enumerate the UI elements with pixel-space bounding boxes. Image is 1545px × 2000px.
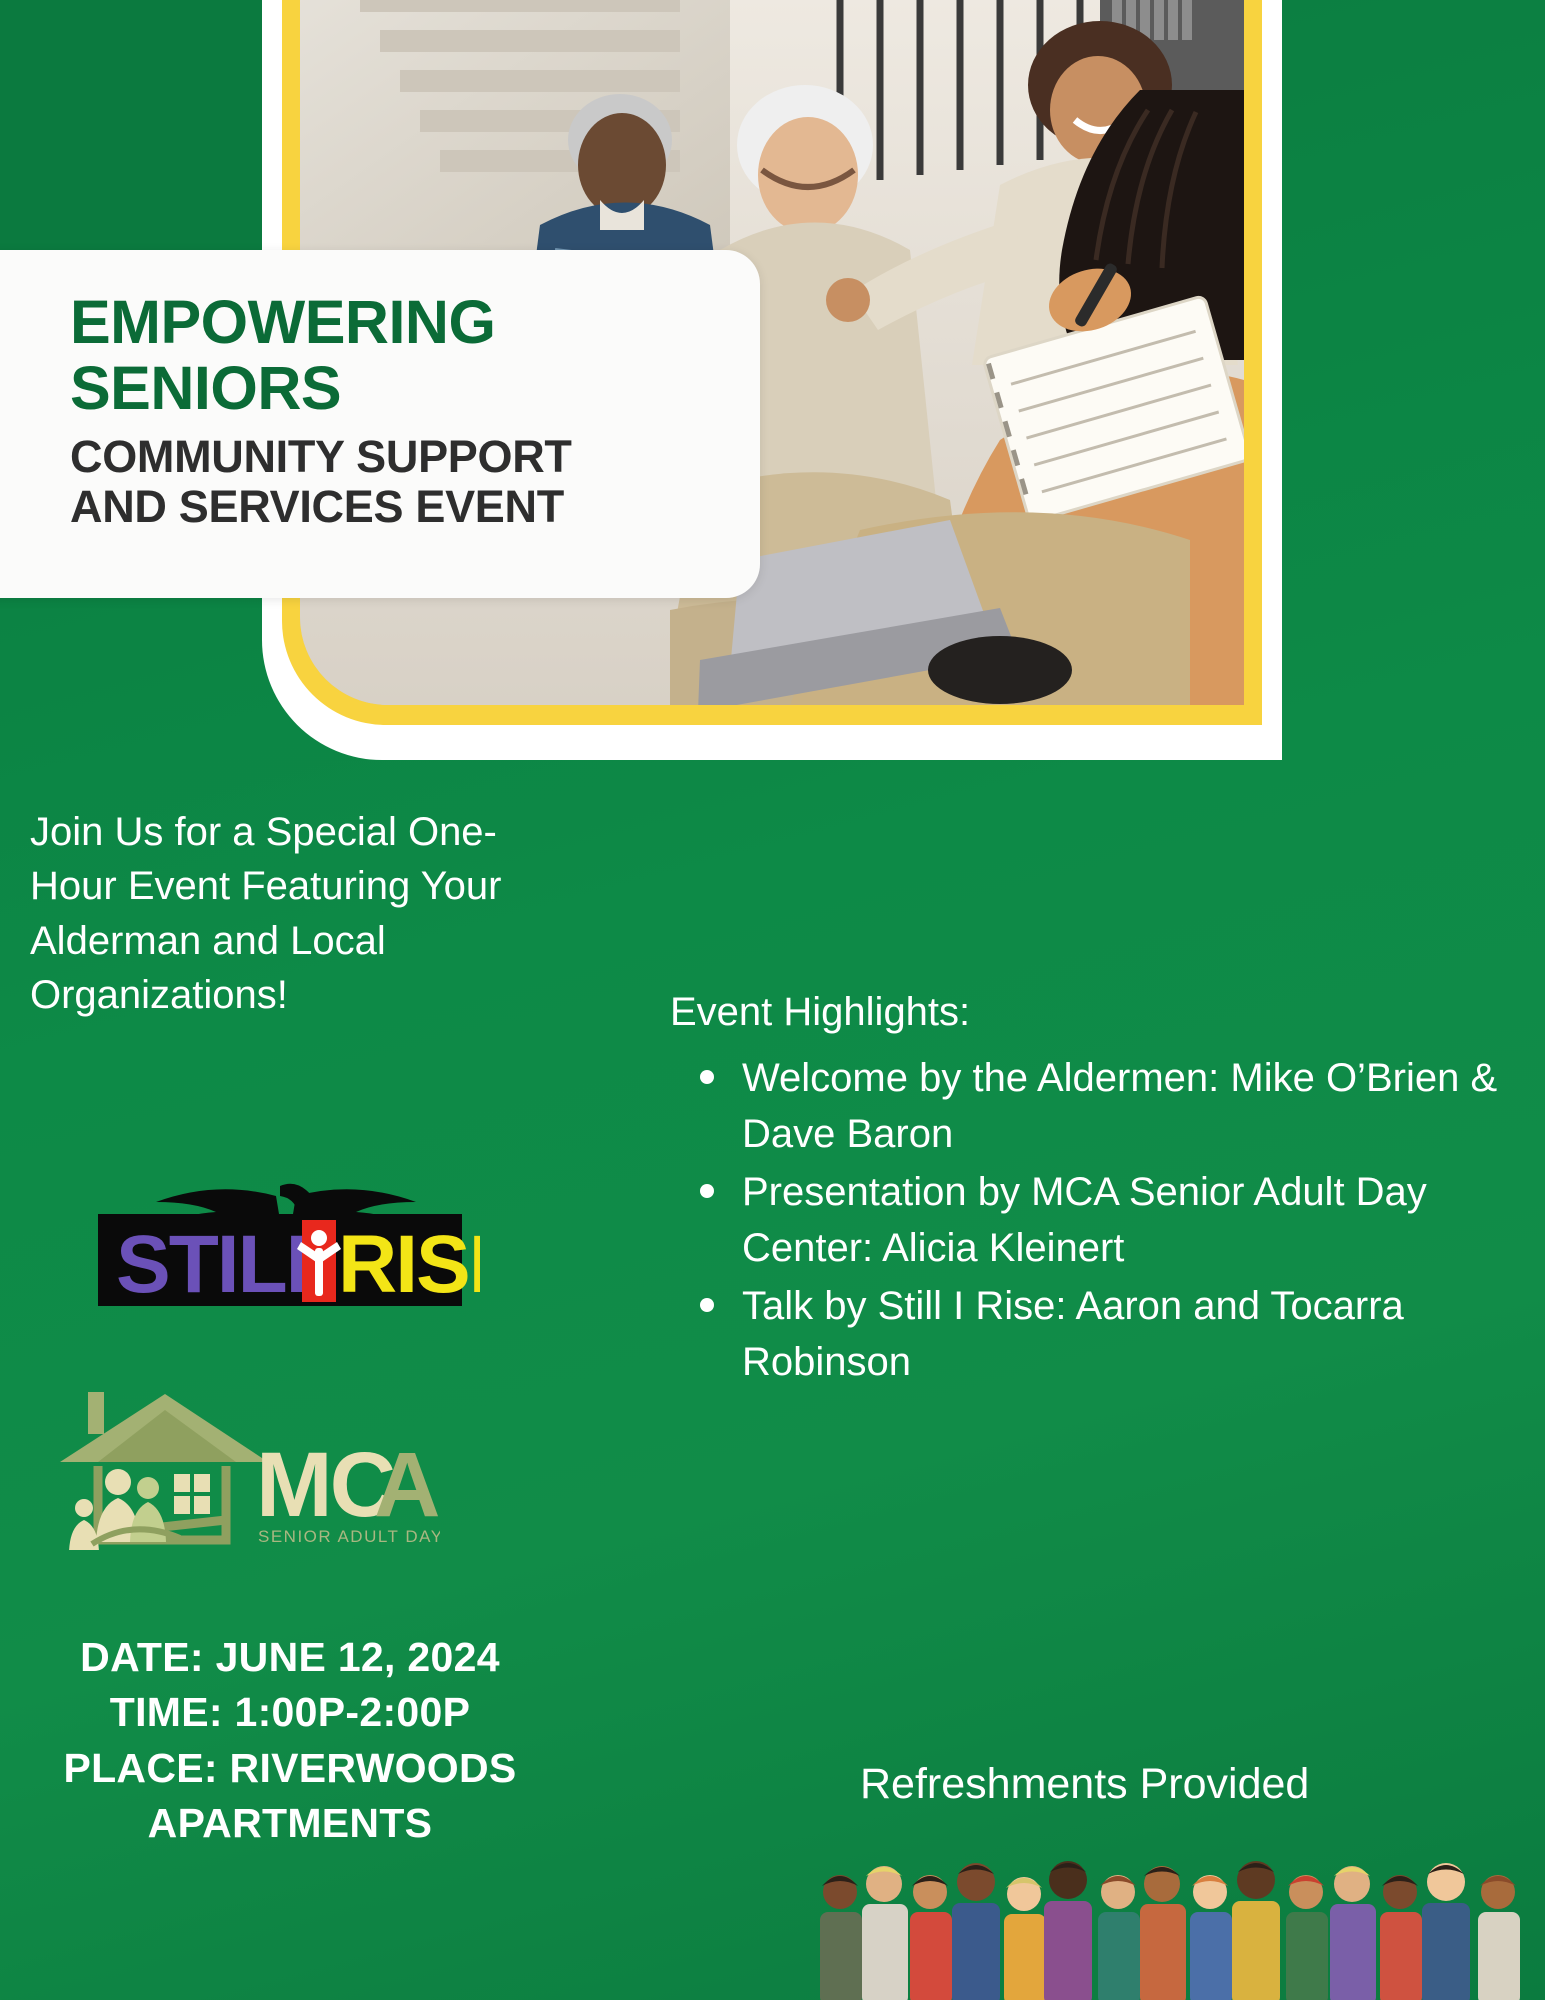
svg-text:STILL: STILL bbox=[116, 1219, 334, 1310]
page-title-line2: SENIORS bbox=[70, 356, 730, 422]
still-i-rise-logo: STILL RISE bbox=[80, 1180, 480, 1315]
list-item-label: Presentation by MCA Senior Adult Day Cen… bbox=[742, 1170, 1427, 1270]
event-place-line1: PLACE: RIVERWOODS bbox=[10, 1741, 570, 1796]
bullet-dot-icon bbox=[700, 1298, 714, 1312]
list-item-label: Welcome by the Aldermen: Mike O’Brien & … bbox=[742, 1056, 1497, 1156]
refreshments-note: Refreshments Provided bbox=[860, 1760, 1309, 1809]
crowd-illustration bbox=[800, 1840, 1545, 2000]
event-date: DATE: JUNE 12, 2024 bbox=[10, 1630, 570, 1685]
page-subtitle-line1: COMMUNITY SUPPORT bbox=[70, 432, 730, 482]
event-details: DATE: JUNE 12, 2024 TIME: 1:00P-2:00P PL… bbox=[10, 1630, 570, 1851]
page-subtitle-line2: AND SERVICES EVENT bbox=[70, 482, 730, 532]
title-card: EMPOWERING SENIORS COMMUNITY SUPPORT AND… bbox=[0, 250, 760, 598]
highlights-heading: Event Highlights: bbox=[670, 990, 970, 1035]
svg-text:RISE: RISE bbox=[338, 1219, 480, 1310]
mca-tagline: SENIOR ADULT DAY CENTER bbox=[258, 1527, 440, 1546]
mca-logo: MC A SENIOR ADULT DAY CENTER bbox=[40, 1370, 440, 1550]
bullet-dot-icon bbox=[700, 1070, 714, 1084]
intro-paragraph: Join Us for a Special One-Hour Event Fea… bbox=[30, 805, 570, 1023]
event-time: TIME: 1:00P-2:00P bbox=[10, 1685, 570, 1740]
list-item: Talk by Still I Rise: Aaron and Tocarra … bbox=[742, 1278, 1532, 1390]
list-item: Welcome by the Aldermen: Mike O’Brien & … bbox=[742, 1050, 1532, 1162]
highlights-list: Welcome by the Aldermen: Mike O’Brien & … bbox=[700, 1050, 1532, 1392]
page-title-line1: EMPOWERING bbox=[70, 290, 730, 356]
mca-acronym: MC bbox=[256, 1434, 394, 1536]
svg-text:A: A bbox=[374, 1434, 439, 1536]
list-item-label: Talk by Still I Rise: Aaron and Tocarra … bbox=[742, 1284, 1404, 1384]
flyer-root: EMPOWERING SENIORS COMMUNITY SUPPORT AND… bbox=[0, 0, 1545, 2000]
event-place-line2: APARTMENTS bbox=[10, 1796, 570, 1851]
bullet-dot-icon bbox=[700, 1184, 714, 1198]
list-item: Presentation by MCA Senior Adult Day Cen… bbox=[742, 1164, 1532, 1276]
